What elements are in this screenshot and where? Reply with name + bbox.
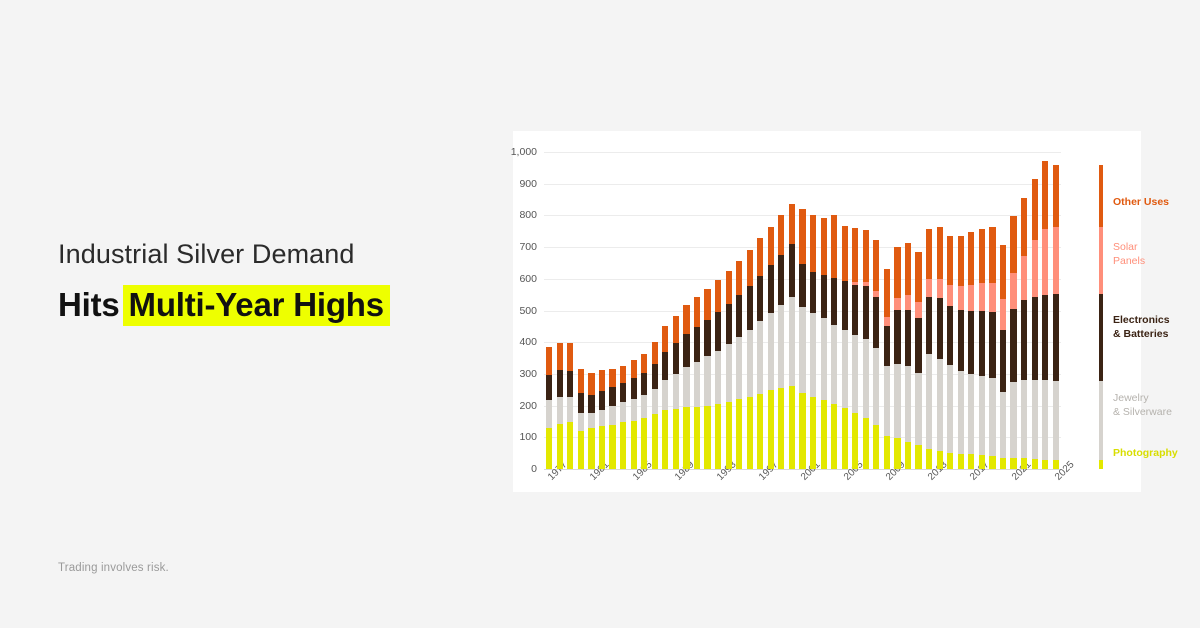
bar-segment [842, 330, 848, 409]
bar-segment [726, 344, 732, 402]
bar-segment [1021, 300, 1027, 379]
bar-segment [873, 291, 879, 297]
y-axis-tick-label: 400 [519, 336, 537, 348]
bar-segment [863, 230, 869, 282]
bar-segment [915, 373, 921, 445]
bar-segment [905, 310, 911, 366]
bar-segment [609, 425, 615, 469]
legend-swatch [1099, 294, 1103, 380]
bar-segment [747, 330, 753, 397]
bar-segment [694, 297, 700, 327]
bar-segment [1021, 458, 1027, 469]
bar-segment [546, 400, 552, 429]
bar-segment [937, 279, 943, 299]
bar-segment [894, 247, 900, 298]
bar-segment [873, 425, 879, 469]
bar-segment [726, 304, 732, 344]
bar-segment [578, 369, 584, 392]
disclaimer-text: Trading involves risk. [58, 562, 169, 574]
bar-segment [852, 228, 858, 282]
bar-segment [968, 232, 974, 285]
y-axis-tick-label: 800 [519, 209, 537, 221]
chart-card: 01002003004005006007008009001,000 197719… [513, 131, 1141, 492]
bar-segment [704, 356, 710, 405]
bar-segment [799, 307, 805, 393]
headline-block: Industrial Silver Demand HitsMulti-Year … [58, 238, 488, 326]
bar-segment [894, 364, 900, 438]
bar-segment [1053, 381, 1059, 460]
y-axis-tick-label: 900 [519, 178, 537, 190]
bar-segment [926, 449, 932, 469]
bar-segment [768, 390, 774, 469]
bar-segment [557, 370, 563, 397]
legend-swatch [1099, 227, 1103, 294]
bar-segment [736, 337, 742, 399]
bar-segment [1010, 273, 1016, 309]
bar-segment [683, 334, 689, 367]
bar-segment [683, 367, 689, 407]
bar-segment [599, 370, 605, 392]
chart-plot-area: 01002003004005006007008009001,000 197719… [544, 142, 1089, 469]
bar-segment [652, 364, 658, 389]
bar-segment [1032, 179, 1038, 240]
bar-segment [578, 431, 584, 469]
y-axis-tick-label: 300 [519, 368, 537, 380]
page-subtitle: HitsMulti-Year Highs [58, 285, 488, 326]
bar-segment [937, 359, 943, 452]
bar-segment [799, 393, 805, 469]
bar-segment [662, 380, 668, 410]
bar-segment [641, 373, 647, 395]
bar-segment [1021, 256, 1027, 300]
bar-segment [884, 326, 890, 367]
y-axis-tick-label: 1,000 [511, 146, 537, 158]
bar-segment [578, 393, 584, 413]
bar-segment [620, 383, 626, 402]
bar-segment [609, 387, 615, 405]
bar-segment [641, 395, 647, 418]
bar-segment [926, 279, 932, 297]
bar-segment [1021, 380, 1027, 459]
bar-segment [641, 418, 647, 469]
bar-segment [599, 391, 605, 409]
bar-segment [609, 369, 615, 387]
bar-segment [567, 397, 573, 422]
bar-segment [831, 278, 837, 324]
bar-segment [863, 418, 869, 469]
bar-segment [1053, 294, 1059, 380]
bar-segment [821, 275, 827, 318]
bar-segment [673, 409, 679, 469]
bar-segment [662, 410, 668, 469]
bar-segment [937, 298, 943, 358]
bar-segment [863, 282, 869, 286]
bar-segment [979, 455, 985, 469]
bar-segment [842, 226, 848, 282]
bar-segment [588, 413, 594, 428]
bar-segment [567, 343, 573, 370]
bar-segment [852, 282, 858, 285]
bar-segment [852, 413, 858, 469]
bar-segment [873, 297, 879, 348]
bar-segment [863, 286, 869, 339]
subtitle-highlight: Multi-Year Highs [123, 285, 390, 326]
bar-segment [1000, 330, 1006, 392]
bar-segment [979, 376, 985, 455]
bar-segment [863, 339, 869, 418]
page-title: Industrial Silver Demand [58, 238, 488, 272]
bar-segment [842, 408, 848, 469]
bar-segment [715, 312, 721, 351]
bar-segment [915, 302, 921, 318]
bar-segment [1010, 458, 1016, 469]
bar-segment [683, 407, 689, 469]
bar-segment [947, 285, 953, 306]
bar-segment [831, 325, 837, 404]
bar-segment [1032, 380, 1038, 459]
bar-segment [958, 454, 964, 469]
bar-segment [715, 280, 721, 312]
bar-segment [799, 264, 805, 307]
bar-segment [715, 351, 721, 404]
bar-segment [958, 371, 964, 454]
bar-segment [588, 428, 594, 469]
bar-segment [958, 236, 964, 286]
bar-segment [715, 404, 721, 469]
bar-segment [979, 311, 985, 376]
bar-segment [821, 318, 827, 400]
bar-segment [557, 397, 563, 424]
bar-segment [1000, 458, 1006, 469]
bar-segment [810, 397, 816, 469]
bar-segment [652, 389, 658, 414]
bar-segment [652, 414, 658, 469]
bar-segment [989, 227, 995, 282]
subtitle-prefix: Hits [58, 285, 123, 325]
bar-segment [968, 454, 974, 469]
legend-swatch [1099, 460, 1103, 469]
bar-segment [810, 313, 816, 397]
bar-segment [1042, 380, 1048, 460]
bar-segment [947, 306, 953, 365]
bar-segment [557, 424, 563, 469]
bar-segment [789, 386, 795, 469]
bar-segment [894, 438, 900, 469]
bar-segment [546, 428, 552, 469]
bar-segment [926, 297, 932, 354]
bar-segment [968, 311, 974, 374]
bar-segment [778, 215, 784, 254]
bar-segment [789, 244, 795, 297]
bar-segment [588, 395, 594, 413]
bar-segment [884, 269, 890, 318]
bar-segment [905, 243, 911, 296]
bar-segment [1000, 245, 1006, 300]
bar-segment [1000, 299, 1006, 329]
bar-segment [778, 255, 784, 305]
bar-segment [905, 295, 911, 310]
bar-segment [989, 456, 995, 469]
bar-segment [1042, 161, 1048, 229]
bar-segment [915, 445, 921, 469]
bar-segment [557, 343, 563, 370]
bar-segment [578, 413, 584, 431]
bar-segment [947, 453, 953, 469]
bar-segment [620, 422, 626, 469]
y-axis-tick-label: 100 [519, 431, 537, 443]
bar-segment [789, 297, 795, 386]
bar-segment [567, 422, 573, 469]
bar-segment [631, 421, 637, 469]
bar-segment [915, 252, 921, 302]
y-axis-tick-label: 500 [519, 305, 537, 317]
bar-segment [799, 209, 805, 264]
bar-segment [768, 227, 774, 265]
bar-segment [673, 374, 679, 409]
bar-segment [852, 335, 858, 413]
bar-segment [1042, 460, 1048, 470]
bar-segment [968, 374, 974, 455]
bar-segment [631, 399, 637, 421]
bar-segment [546, 347, 552, 375]
bar-segment [694, 407, 700, 469]
bar-segment [1042, 295, 1048, 380]
bar-segment [694, 362, 700, 406]
bar-segment [1000, 392, 1006, 459]
bar-segment [842, 281, 848, 329]
bar-segment [662, 326, 668, 352]
bar-segment [768, 265, 774, 313]
bar-segment [915, 318, 921, 373]
bar-segment [873, 240, 879, 291]
bar-segment [1053, 165, 1059, 227]
legend-swatch [1099, 165, 1103, 227]
bar-segment [778, 388, 784, 469]
bar-segment [546, 375, 552, 400]
bar-segment [609, 406, 615, 425]
legend-swatch [1099, 381, 1103, 460]
bar-segment [989, 378, 995, 455]
bar-segment [567, 371, 573, 397]
bar-segment [810, 215, 816, 271]
bar-segment [968, 285, 974, 312]
bar-segment [736, 295, 742, 337]
bar-segment [926, 354, 932, 449]
y-axis-tick-label: 200 [519, 400, 537, 412]
bar-segment [937, 451, 943, 469]
bar-segment [831, 215, 837, 278]
bar-segment [673, 316, 679, 343]
bar-segment [926, 229, 932, 279]
bar-segment [683, 305, 689, 334]
bar-segment [905, 442, 911, 469]
bar-segment [694, 327, 700, 362]
bar-segment [884, 366, 890, 436]
bar-segment [747, 250, 753, 286]
bar-segment [789, 204, 795, 244]
bar-segment [652, 342, 658, 365]
bar-segment [768, 313, 774, 391]
bar-segment [1053, 227, 1059, 294]
bar-segment [620, 366, 626, 383]
bar-segment [947, 236, 953, 285]
legend-label-jewelry-silverware: Jewelry& Silverware [1113, 392, 1172, 420]
y-axis-tick-label: 600 [519, 273, 537, 285]
bar-segment [747, 286, 753, 330]
bar-segment [757, 321, 763, 393]
bar-segment [704, 320, 710, 357]
bar-segment [726, 402, 732, 469]
bar-segment [704, 289, 710, 320]
bar-segment [831, 404, 837, 469]
bar-segment [1032, 240, 1038, 297]
bar-segment [726, 271, 732, 304]
bar-segment [588, 373, 594, 395]
bar-segment [631, 360, 637, 378]
bar-segment [620, 402, 626, 422]
bar-segment [989, 312, 995, 379]
legend-label-photography: Photography [1113, 447, 1178, 461]
bar-segment [1021, 198, 1027, 256]
bar-segment [1032, 297, 1038, 379]
bar-segment [810, 272, 816, 313]
bar-segment [631, 378, 637, 399]
bar-segment [662, 352, 668, 380]
bar-segment [747, 397, 753, 469]
bar-segment [821, 400, 827, 469]
bar-segment [989, 283, 995, 312]
bar-segment [641, 354, 647, 374]
bar-segment [1010, 382, 1016, 458]
bar-segment [757, 394, 763, 469]
bar-segment [821, 218, 827, 275]
bar-segment [979, 283, 985, 311]
bar-segment [884, 436, 890, 469]
y-axis-tick-label: 0 [531, 463, 537, 475]
bar-segment [947, 365, 953, 453]
bar-segment [736, 261, 742, 295]
bar-segment [1042, 229, 1048, 295]
bar-segment [905, 366, 911, 442]
bar-segment [979, 229, 985, 283]
bar-segment [1010, 216, 1016, 273]
bar-segment [1053, 460, 1059, 469]
chart-legend: Other UsesSolarPanelsElectronics& Batter… [1099, 142, 1139, 469]
bar-segment [958, 286, 964, 309]
bar-segment [884, 317, 890, 325]
legend-label-other-uses: Other Uses [1113, 196, 1169, 210]
bar-segment [894, 310, 900, 365]
bar-segment [894, 298, 900, 310]
infographic-canvas: Industrial Silver Demand HitsMulti-Year … [0, 0, 1200, 628]
bar-segment [599, 410, 605, 426]
bar-segment [1010, 309, 1016, 382]
bar-segment [704, 406, 710, 469]
legend-label-solar-panels: SolarPanels [1113, 241, 1145, 269]
bar-series-container: 1977198119851989199319972001200520092013… [544, 152, 1061, 469]
bar-segment [1032, 459, 1038, 469]
legend-label-electronics-batteries: Electronics& Batteries [1113, 314, 1170, 342]
bar-segment [778, 305, 784, 388]
bar-segment [757, 238, 763, 275]
bar-segment [599, 426, 605, 469]
bar-segment [958, 310, 964, 371]
bar-segment [937, 227, 943, 278]
bar-segment [873, 348, 879, 425]
bar-segment [757, 276, 763, 322]
bar-segment [736, 399, 742, 469]
y-axis-tick-label: 700 [519, 241, 537, 253]
bar-segment [852, 285, 858, 335]
bar-segment [673, 343, 679, 373]
